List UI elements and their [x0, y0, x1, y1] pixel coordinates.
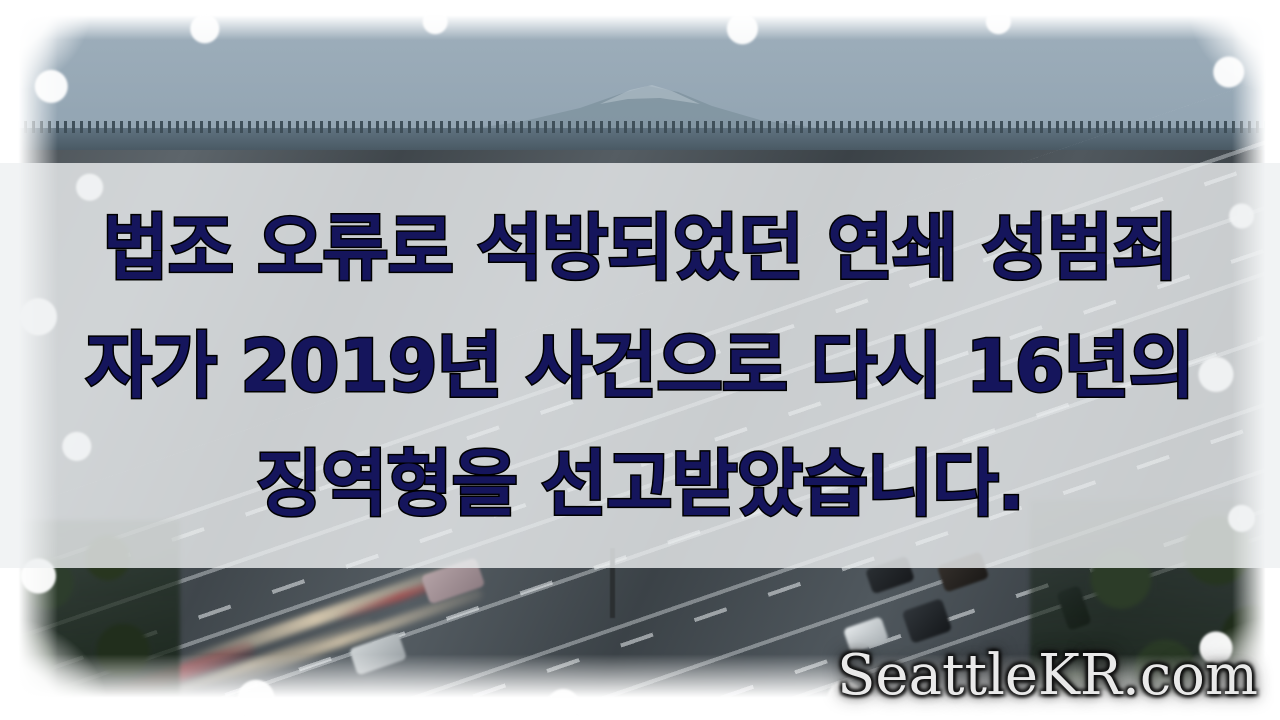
headline-line-2: 자가 2019년 사건으로 다시 16년의 [30, 307, 1250, 425]
caption-overlay-panel: 법조 오류로 석방되었던 연쇄 성범죄 자가 2019년 사건으로 다시 16년… [0, 163, 1280, 568]
site-watermark: SeattleKR.com [837, 643, 1258, 708]
news-thumbnail-card: 법조 오류로 석방되었던 연쇄 성범죄 자가 2019년 사건으로 다시 16년… [0, 0, 1280, 720]
headline-line-1: 법조 오류로 석방되었던 연쇄 성범죄 [30, 189, 1250, 307]
headline-line-3: 징역형을 선고받았습니다. [30, 425, 1250, 543]
